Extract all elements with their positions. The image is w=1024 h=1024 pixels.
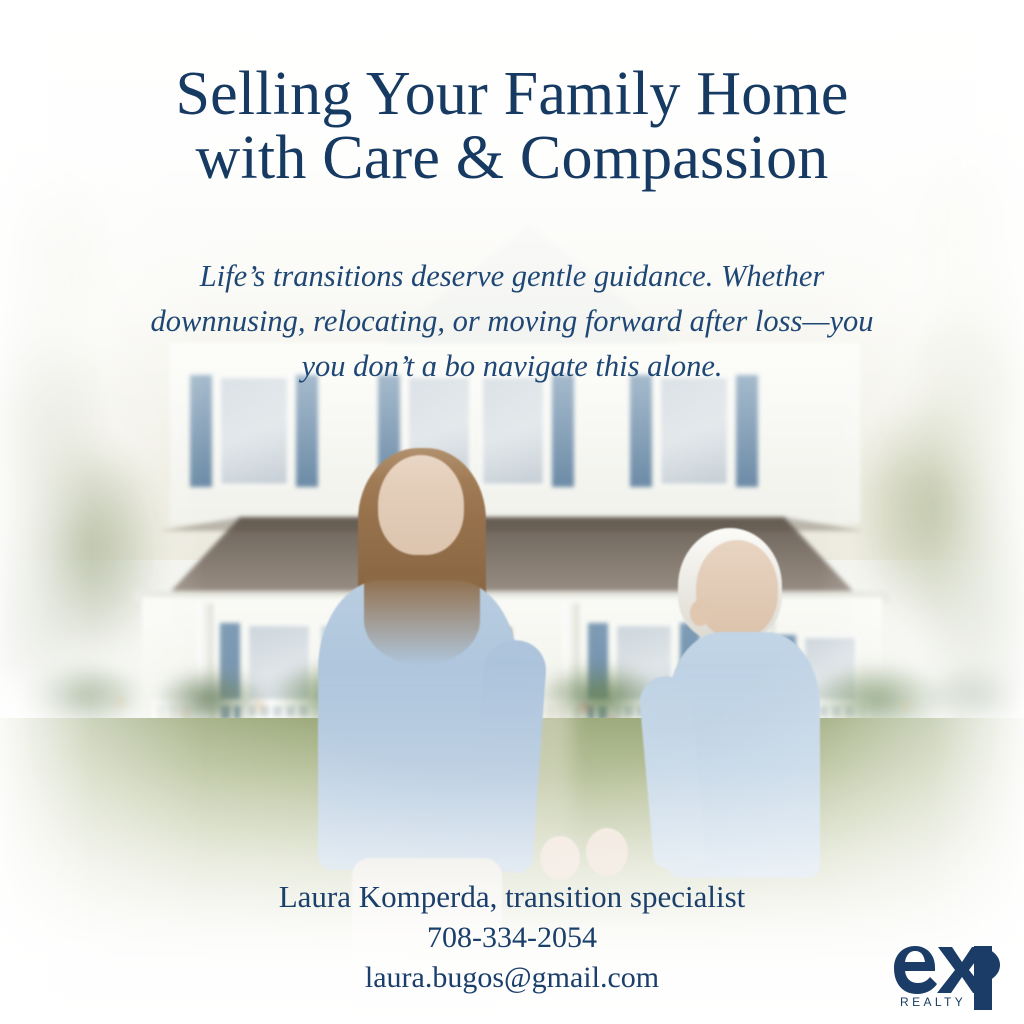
real-estate-flyer: Selling Your Family Home with Care & Com… [0, 0, 1024, 1024]
logo-tagline: REALTY [900, 995, 966, 1009]
subheading: Life’s transitions deserve gentle guidan… [0, 254, 1024, 388]
headline-line-1: Selling Your Family Home [54, 62, 970, 126]
subheading-line-3: you don’t ɑ bo navigate this alone. [96, 344, 928, 389]
page-title: Selling Your Family Home with Care & Com… [0, 62, 1024, 191]
agent-name: Laura Komperda, transition specialist [0, 876, 1024, 918]
exp-realty-logo[interactable]: REALTY [888, 932, 1006, 1010]
headline-line-2: with Care & Compassion [54, 126, 970, 190]
email-address[interactable]: laura.bugos@gmail.com [0, 958, 1024, 998]
subheading-line-2: downnusing, relocating, or moving forwar… [96, 299, 928, 344]
flyer-content: Selling Your Family Home with Care & Com… [0, 0, 1024, 1024]
phone-number[interactable]: 708-334-2054 [0, 918, 1024, 958]
subheading-line-1: Life’s transitions deserve gentle guidan… [96, 254, 928, 299]
contact-block: Laura Komperda, transition specialist 70… [0, 876, 1024, 998]
